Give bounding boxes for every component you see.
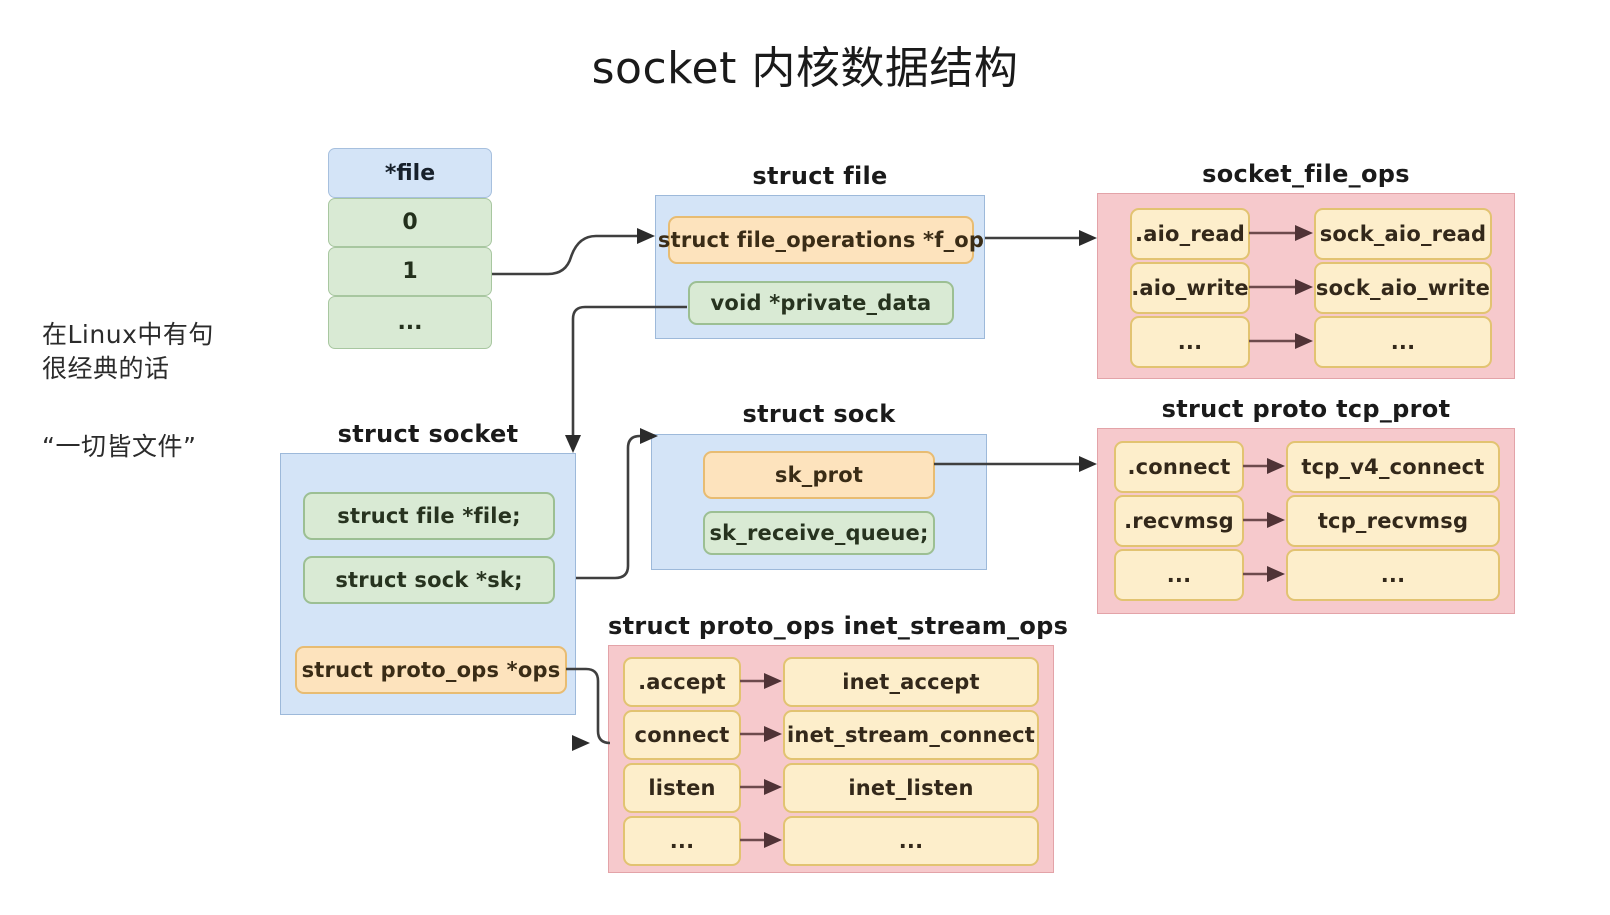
inet-key-connect: connect [623, 710, 741, 760]
field-f-op: struct file_operations *f_op [668, 216, 974, 264]
caption-struct-file: struct file [655, 162, 985, 190]
ops-val-sock-aio-write: sock_aio_write [1314, 262, 1492, 314]
tcp-key-recvmsg: .recvmsg [1114, 495, 1244, 547]
inet-key-accept: .accept [623, 657, 741, 707]
fd-table-row-1: 1 [328, 247, 492, 296]
panel-struct-socket: struct file *file; struct sock *sk; stru… [280, 453, 576, 715]
tcp-key-connect: .connect [1114, 441, 1244, 493]
panel-struct-sock: sk_prot sk_receive_queue; [651, 434, 987, 570]
inet-val-inet-accept: inet_accept [783, 657, 1039, 707]
field-socket-sk: struct sock *sk; [303, 556, 555, 604]
tcp-key-more: ... [1114, 549, 1244, 601]
fd-table-header: *file [328, 148, 492, 198]
inet-val-more: ... [783, 816, 1039, 866]
inet-val-inet-stream-connect: inet_stream_connect [783, 710, 1039, 760]
tcp-val-tcp-recvmsg: tcp_recvmsg [1286, 495, 1500, 547]
connector-sk-to-struct-sock [576, 428, 658, 578]
field-socket-file: struct file *file; [303, 492, 555, 540]
diagram-canvas: socket 内核数据结构 在Linux中有句 很经典的话 “一切皆文件” *f… [0, 0, 1610, 915]
field-sk-receive-queue: sk_receive_queue; [703, 511, 935, 555]
ops-key-more: ... [1130, 316, 1250, 368]
inet-val-inet-listen: inet_listen [783, 763, 1039, 813]
note-linux-saying: 在Linux中有句 很经典的话 [42, 318, 272, 386]
connector-fop-to-socket-file-ops [985, 230, 1097, 246]
ops-val-more: ... [1314, 316, 1492, 368]
panel-tcp-prot: .connect .recvmsg ... tcp_v4_connect tcp… [1097, 428, 1515, 614]
connector-fd-to-file [492, 228, 655, 274]
inet-key-more: ... [623, 816, 741, 866]
caption-inet-stream-ops: struct proto_ops inet_stream_ops [608, 612, 1054, 640]
caption-tcp-prot: struct proto tcp_prot [1097, 395, 1515, 423]
field-private-data: void *private_data [688, 281, 954, 325]
tcp-val-tcp-v4-connect: tcp_v4_connect [1286, 441, 1500, 493]
fd-table-row-0: 0 [328, 198, 492, 247]
page-title: socket 内核数据结构 [0, 32, 1610, 96]
panel-socket-file-ops: .aio_read .aio_write ... sock_aio_read s… [1097, 193, 1515, 379]
ops-key-aio-write: .aio_write [1130, 262, 1250, 314]
file-descriptor-table: *file 0 1 ... [328, 148, 492, 349]
caption-struct-sock: struct sock [651, 400, 987, 428]
ops-val-sock-aio-read: sock_aio_read [1314, 208, 1492, 260]
caption-struct-socket: struct socket [280, 420, 576, 448]
field-sk-prot: sk_prot [703, 451, 935, 499]
panel-struct-file: struct file_operations *f_op void *priva… [655, 195, 985, 339]
caption-socket-file-ops: socket_file_ops [1097, 160, 1515, 188]
tcp-val-more: ... [1286, 549, 1500, 601]
inet-key-listen: listen [623, 763, 741, 813]
fd-table-row-more: ... [328, 296, 492, 349]
ops-key-aio-read: .aio_read [1130, 208, 1250, 260]
panel-inet-stream-ops: .accept connect listen ... inet_accept i… [608, 645, 1054, 873]
note-everything-is-a-file: “一切皆文件” [42, 430, 272, 464]
field-socket-ops: struct proto_ops *ops [295, 646, 567, 694]
